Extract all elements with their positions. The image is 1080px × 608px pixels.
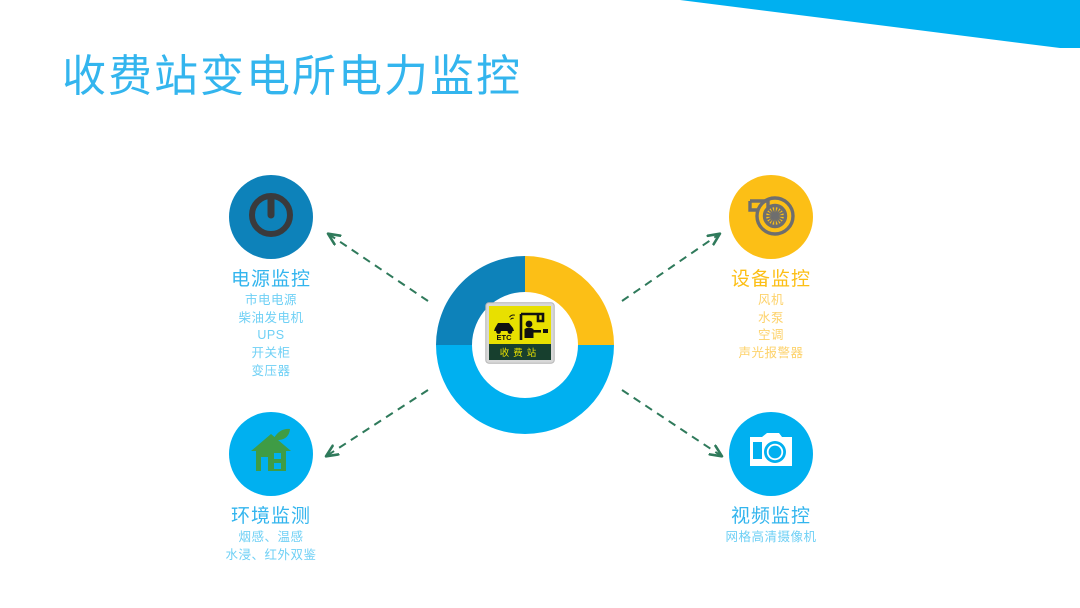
node-equipment-monitoring[interactable]: 设备监控 风机 水泵 空调 声光报警器: [641, 175, 901, 363]
power-monitoring-title: 电源监控: [141, 269, 401, 292]
video-monitoring-title: 视频监控: [641, 506, 901, 529]
page-title: 收费站变电所电力监控: [62, 40, 522, 104]
power-monitoring-icon-circle: [229, 175, 313, 259]
diagram-stage: ETC 收费站: [0, 130, 1080, 608]
node-power-monitoring[interactable]: 电源监控 市电电源 柴油发电机 UPS 开关柜 变压器: [141, 175, 401, 381]
toll-station-sign-label: 收费站: [500, 347, 541, 359]
list-item: 变压器: [141, 363, 401, 381]
node-environment-monitoring[interactable]: 环境监测 烟感、温感 水浸、红外双鉴: [141, 412, 401, 564]
node-video-monitoring[interactable]: 视频监控 网格高清摄像机: [641, 412, 901, 547]
list-item: UPS: [141, 327, 401, 345]
equipment-monitoring-items: 风机 水泵 空调 声光报警器: [641, 292, 901, 363]
camera-icon: [745, 430, 797, 479]
list-item: 柴油发电机: [141, 310, 401, 328]
list-item: 开关柜: [141, 345, 401, 363]
list-item: 水泵: [641, 310, 901, 328]
list-item: 声光报警器: [641, 345, 901, 363]
equipment-monitoring-icon-circle: [729, 175, 813, 259]
equipment-monitoring-title: 设备监控: [641, 269, 901, 292]
video-monitoring-icon-circle: [729, 412, 813, 496]
environment-monitoring-icon-circle: [229, 412, 313, 496]
list-item: 烟感、温感: [141, 529, 401, 547]
blower-fan-icon: [744, 192, 798, 243]
etc-badge-text: ETC: [497, 333, 513, 342]
list-item: 市电电源: [141, 292, 401, 310]
environment-monitoring-title: 环境监测: [141, 506, 401, 529]
environment-monitoring-items: 烟感、温感 水浸、红外双鉴: [141, 529, 401, 565]
power-icon: [245, 189, 297, 246]
list-item: 空调: [641, 327, 901, 345]
list-item: 水浸、红外双鉴: [141, 547, 401, 565]
eco-house-icon: [244, 425, 298, 484]
power-monitoring-items: 市电电源 柴油发电机 UPS 开关柜 变压器: [141, 292, 401, 381]
list-item: 网格高清摄像机: [641, 529, 901, 547]
toll-station-sign: ETC 收费站: [485, 302, 555, 364]
video-monitoring-items: 网格高清摄像机: [641, 529, 901, 547]
list-item: 风机: [641, 292, 901, 310]
corner-banner-decoration: [600, 0, 1080, 48]
